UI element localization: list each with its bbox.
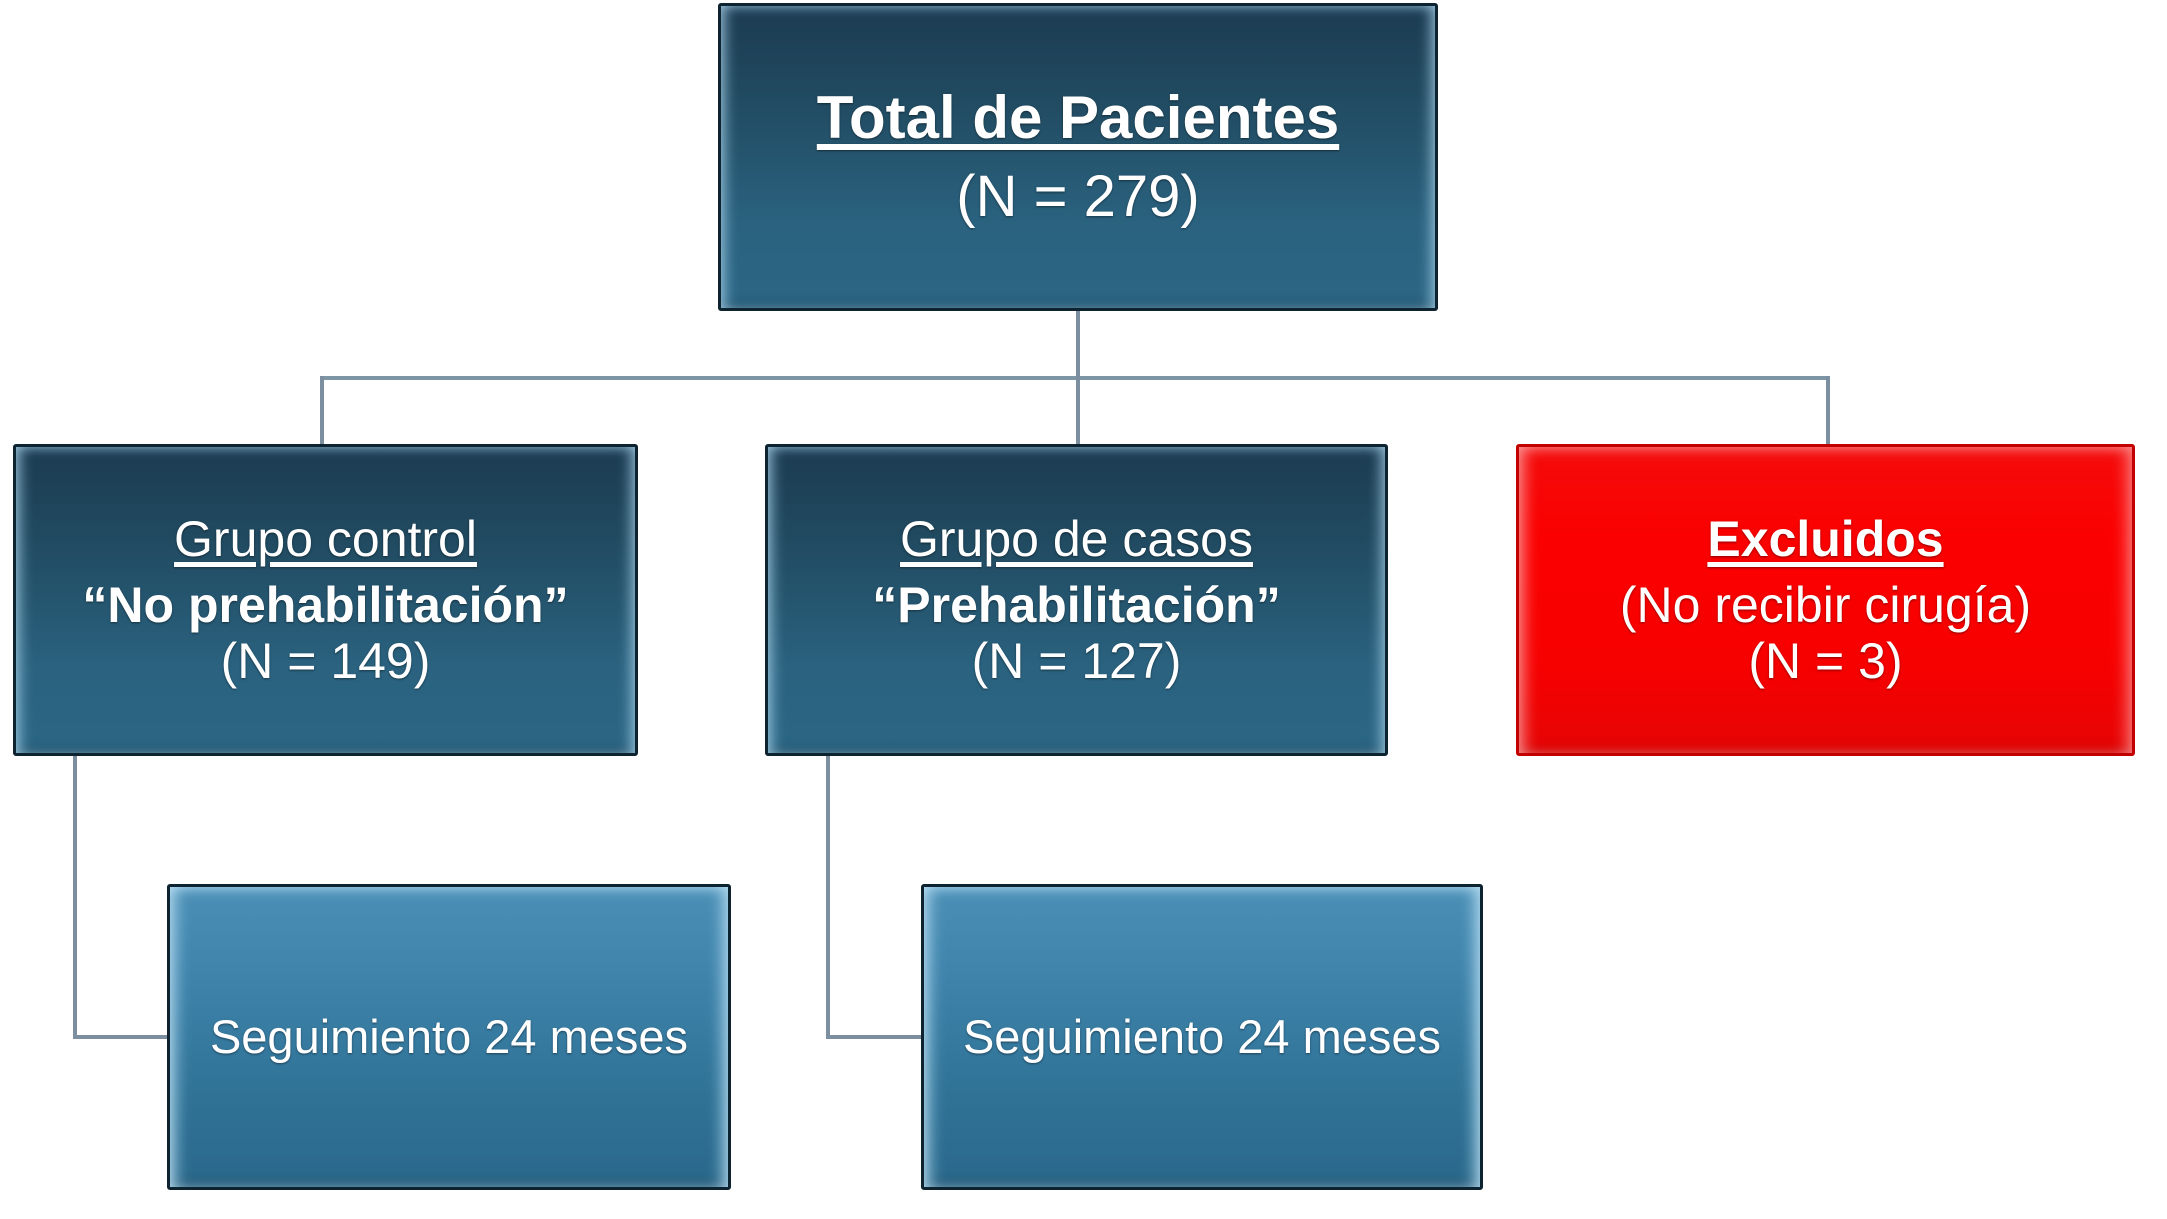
node-followup-cases[interactable]: Seguimiento 24 meses (921, 884, 1483, 1190)
node-total-title: Total de Pacientes (817, 84, 1339, 151)
node-followup-control-label: Seguimiento 24 meses (210, 1011, 688, 1064)
node-followup-cases-label: Seguimiento 24 meses (963, 1011, 1441, 1064)
node-control-group[interactable]: Grupo control “No prehabilitación” (N = … (13, 444, 638, 756)
node-cases-group[interactable]: Grupo de casos “Prehabilitación” (N = 12… (765, 444, 1388, 756)
node-total-patients[interactable]: Total de Pacientes (N = 279) (718, 3, 1438, 311)
node-cases-title: Grupo de casos (900, 511, 1253, 567)
connector-drop-excluded (1826, 376, 1830, 446)
node-control-title: Grupo control (174, 511, 477, 567)
connector-cases-followup-vertical (826, 756, 830, 1039)
connector-control-followup-vertical (73, 756, 77, 1039)
node-control-label: “No prehabilitación” (82, 577, 568, 633)
flowchart-canvas: Total de Pacientes (N = 279) Grupo contr… (0, 0, 2167, 1219)
connector-horizontal-bar (320, 376, 1830, 380)
node-excluded-title: Excluidos (1707, 511, 1943, 567)
node-excluded-label: (No recibir cirugía) (1620, 577, 2031, 633)
node-control-count: (N = 149) (221, 633, 431, 689)
connector-drop-cases (1076, 376, 1080, 446)
node-cases-count: (N = 127) (972, 633, 1182, 689)
node-cases-label: “Prehabilitación” (872, 577, 1280, 633)
connector-control-followup-horizontal (73, 1035, 171, 1039)
node-followup-control[interactable]: Seguimiento 24 meses (167, 884, 731, 1190)
connector-drop-control (320, 376, 324, 446)
connector-total-stem (1076, 311, 1080, 379)
node-excluded-count: (N = 3) (1748, 633, 1902, 689)
node-excluded[interactable]: Excluidos (No recibir cirugía) (N = 3) (1516, 444, 2135, 756)
connector-cases-followup-horizontal (826, 1035, 925, 1039)
node-total-count: (N = 279) (956, 165, 1199, 230)
